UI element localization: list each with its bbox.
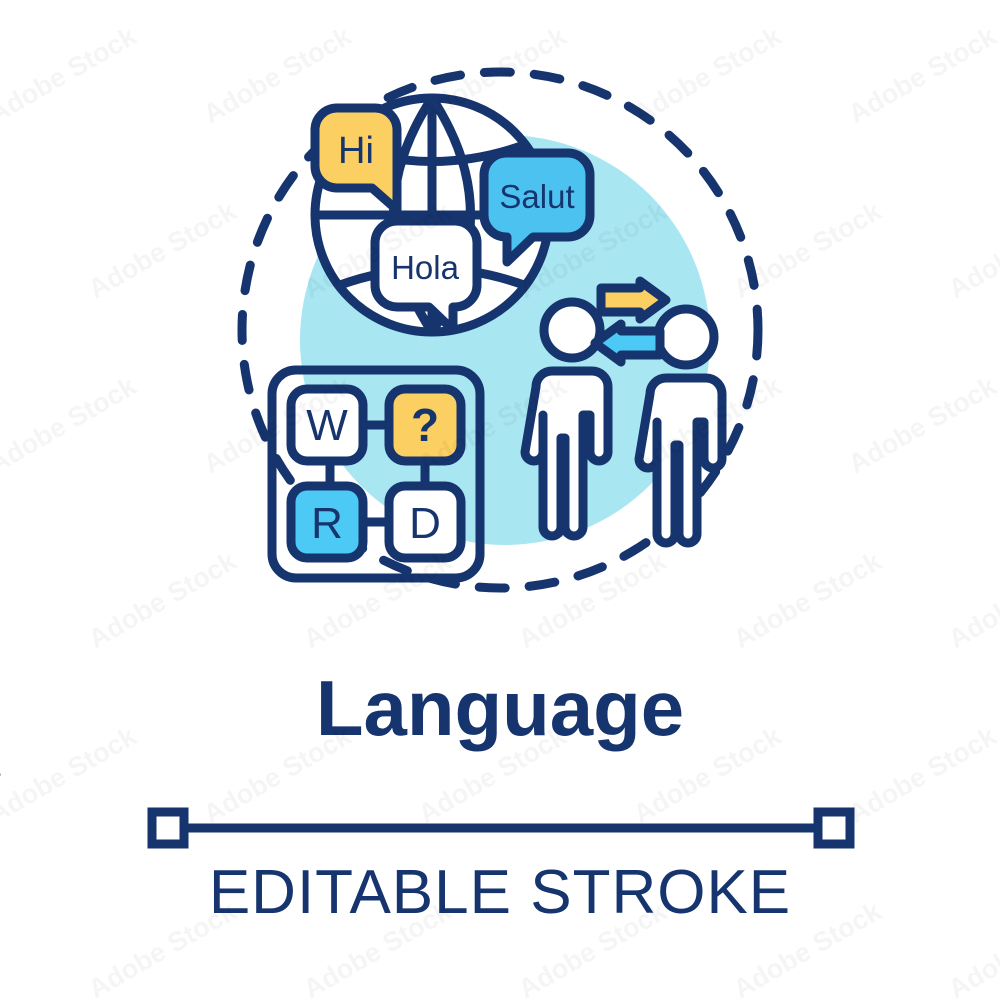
tile-d: D xyxy=(389,486,461,558)
tile-question-letter: ? xyxy=(411,399,439,451)
stroke-handle-right[interactable] xyxy=(818,812,850,844)
stroke-width-bar xyxy=(152,812,850,844)
language-concept-illustration: Hi Salut Hola W xyxy=(0,0,1000,1000)
bubble-hi-label: Hi xyxy=(338,130,374,172)
tile-w-letter: W xyxy=(306,401,348,450)
bubble-hola-label: Hola xyxy=(391,249,460,286)
bubble-salut-label: Salut xyxy=(499,178,574,215)
tile-d-letter: D xyxy=(409,499,441,548)
tile-question: ? xyxy=(389,389,461,461)
tile-w: W xyxy=(291,389,363,461)
stroke-handle-left[interactable] xyxy=(152,812,184,844)
editable-stroke-label: EDITABLE STROKE xyxy=(209,858,791,927)
page-title: Language xyxy=(316,664,684,752)
tile-r: R xyxy=(291,486,363,558)
tile-r-letter: R xyxy=(311,499,343,548)
illustration-canvas: Hi Salut Hola W xyxy=(0,0,1000,1000)
stock-id-watermark: Adobe Stock | #317352702 xyxy=(0,671,2,888)
